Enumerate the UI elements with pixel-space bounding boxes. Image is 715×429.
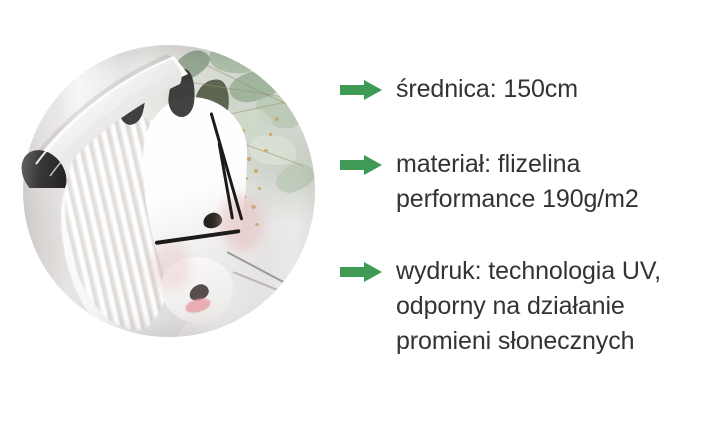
product-mockup xyxy=(0,0,330,429)
arrow-right-icon xyxy=(340,80,382,100)
arrow-right-icon xyxy=(340,155,382,175)
specification-list: średnica: 150cm materiał: flizelina perf… xyxy=(340,0,715,429)
decal-inner-shadow xyxy=(23,45,315,337)
spec-item-print: wydruk: technologia UV, odporny na dział… xyxy=(340,254,715,359)
spec-item-label: wydruk: technologia UV, odporny na dział… xyxy=(396,254,715,359)
decal-circle-preview xyxy=(23,45,315,337)
product-spec-graphic: średnica: 150cm materiał: flizelina perf… xyxy=(0,0,715,429)
spec-item-diameter: średnica: 150cm xyxy=(340,72,715,107)
arrow-right-icon xyxy=(340,262,382,282)
spec-item-label: materiał: flizelina performance 190g/m2 xyxy=(396,147,715,217)
spec-item-label: średnica: 150cm xyxy=(396,72,715,107)
spec-item-material: materiał: flizelina performance 190g/m2 xyxy=(340,147,715,217)
